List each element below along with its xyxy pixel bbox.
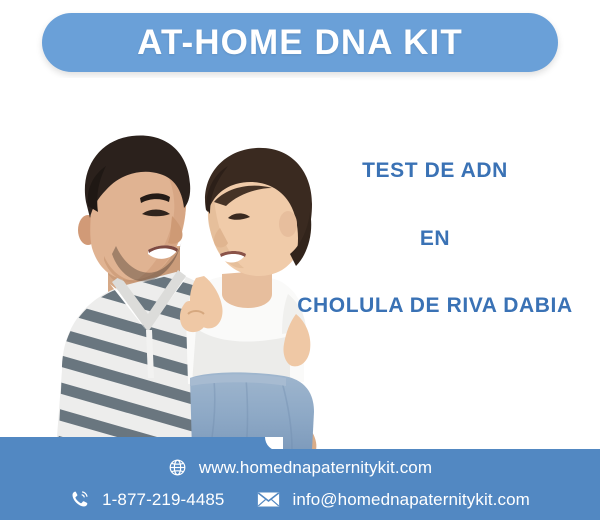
website-item[interactable]: www.homednapaternitykit.com (168, 458, 432, 477)
phone-label: 1-877-219-4485 (102, 491, 224, 508)
headline-line-1: TEST DE ADN (272, 160, 598, 181)
website-label: www.homednapaternitykit.com (199, 459, 432, 476)
footer-row-website: www.homednapaternitykit.com (0, 458, 600, 477)
phone-icon (70, 489, 90, 509)
headline-line-3: CHOLULA DE RIVA DABIA (272, 295, 598, 316)
email-item[interactable]: info@homednapaternitykit.com (257, 491, 529, 508)
footer-row-phone-email: 1-877-219-4485 info@homednapaternitykit.… (0, 489, 600, 509)
globe-icon (168, 458, 187, 477)
headline-line-2: EN (272, 228, 598, 249)
dna-kit-promo-card: AT-HOME DNA KIT (0, 0, 600, 520)
envelope-icon (257, 491, 280, 508)
header-banner: AT-HOME DNA KIT (42, 13, 558, 72)
footer-contact-info: www.homednapaternitykit.com 1-877-219-44… (0, 449, 600, 520)
email-label: info@homednapaternitykit.com (292, 491, 529, 508)
header-title: AT-HOME DNA KIT (137, 25, 463, 60)
headline-block: TEST DE ADN EN CHOLULA DE RIVA DABIA (272, 160, 598, 316)
phone-item[interactable]: 1-877-219-4485 (70, 489, 224, 509)
